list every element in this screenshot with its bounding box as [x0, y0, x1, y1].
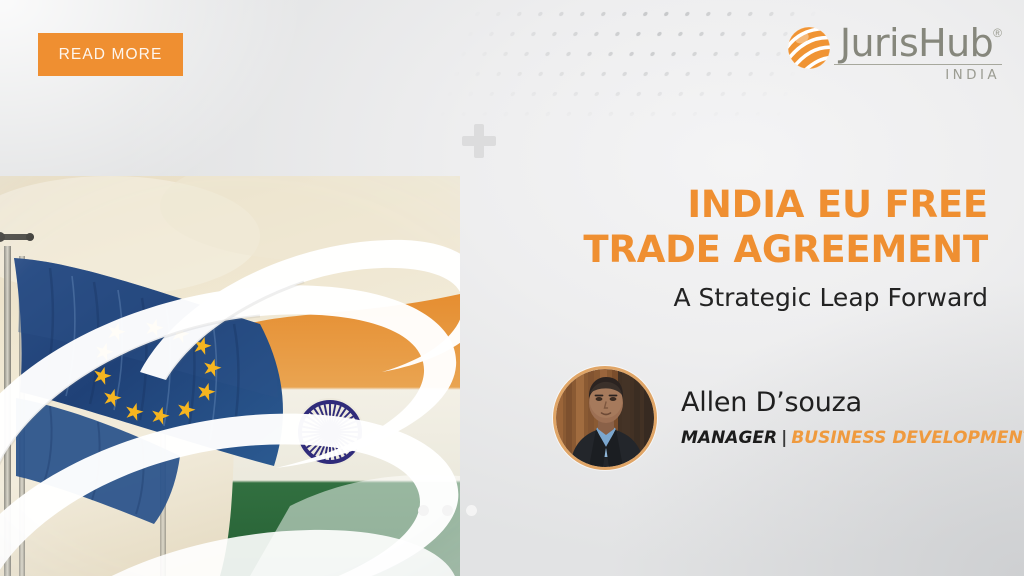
- carousel-dot-3[interactable]: [466, 505, 477, 516]
- carousel-dot-1[interactable]: [418, 505, 429, 516]
- avatar: [553, 366, 657, 470]
- presenter-role: MANAGER|BUSINESS DEVELOPMENT: [681, 425, 1024, 451]
- jurishub-logo[interactable]: JurisHub ® INDIA: [786, 22, 1002, 83]
- hero-flags-image: [0, 176, 460, 576]
- page-title-line-1: INDIA EU FREE: [583, 182, 988, 227]
- presenter-role-title: MANAGER: [681, 428, 777, 448]
- title-block: INDIA EU FREE TRADE AGREEMENT A Strategi…: [583, 182, 988, 315]
- page-title-line-2: TRADE AGREEMENT: [583, 227, 988, 272]
- role-separator: |: [777, 428, 791, 448]
- presenter-department: BUSINESS DEVELOPMENT: [791, 428, 1024, 448]
- registered-trademark-icon: ®: [993, 26, 1002, 40]
- logo-divider: [834, 64, 1002, 65]
- presenter-block: Allen D’souza MANAGER|BUSINESS DEVELOPME…: [553, 366, 1024, 470]
- globe-swirl-icon: [786, 25, 832, 71]
- carousel-dots[interactable]: [418, 505, 477, 516]
- logo-subtitle: INDIA: [945, 67, 1002, 83]
- logo-wordmark: JurisHub: [840, 22, 993, 64]
- page-subtitle: A Strategic Leap Forward: [583, 281, 988, 315]
- presenter-details: Allen D’souza MANAGER|BUSINESS DEVELOPME…: [681, 386, 1024, 451]
- plus-icon: [462, 124, 496, 158]
- read-more-button[interactable]: READ MORE: [38, 33, 183, 76]
- dot-grid-pattern: [427, 0, 829, 130]
- carousel-dot-2[interactable]: [442, 505, 453, 516]
- presenter-name: Allen D’souza: [681, 386, 1024, 420]
- slide-canvas: READ MORE: [0, 0, 1024, 576]
